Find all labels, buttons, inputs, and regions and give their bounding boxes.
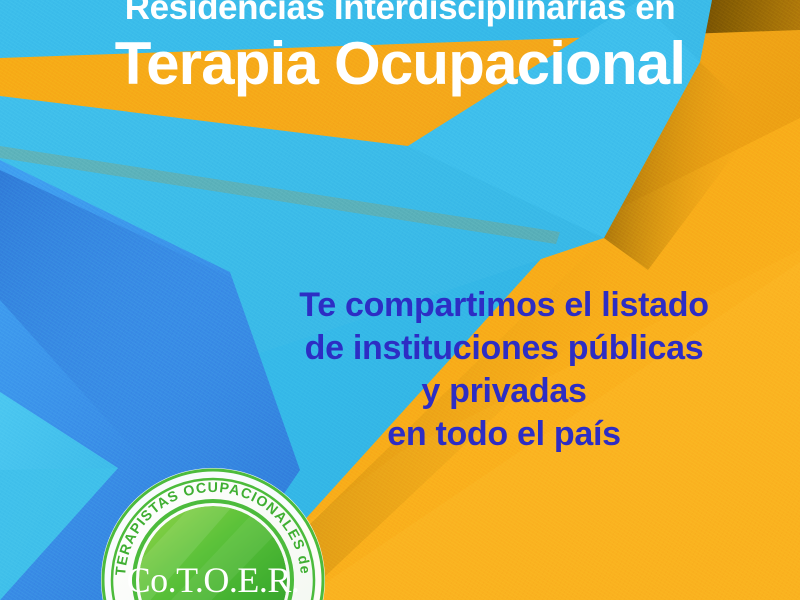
body-line-2: de instituciones públicas xyxy=(234,327,774,370)
logo-center-text: Co.T.O.E.R. xyxy=(127,560,300,600)
body-copy: Te compartimos el listado de institucion… xyxy=(234,284,774,456)
body-line-3: y privadas xyxy=(234,370,774,413)
body-line-1: Te compartimos el listado xyxy=(234,284,774,327)
title-line-2: Terapia Ocupacional xyxy=(0,31,800,97)
title-line-1: Residencias Interdisciplinarias en xyxy=(0,0,800,30)
body-line-4: en todo el país xyxy=(234,413,774,456)
cotoer-logo: Co.T.O.E.R. COLEGIO de TERAPISTAS OCUPAC… xyxy=(99,466,327,600)
poster-canvas: Residencias Interdisciplinarias en Terap… xyxy=(0,0,800,600)
page-title: Residencias Interdisciplinarias en Terap… xyxy=(0,0,800,97)
